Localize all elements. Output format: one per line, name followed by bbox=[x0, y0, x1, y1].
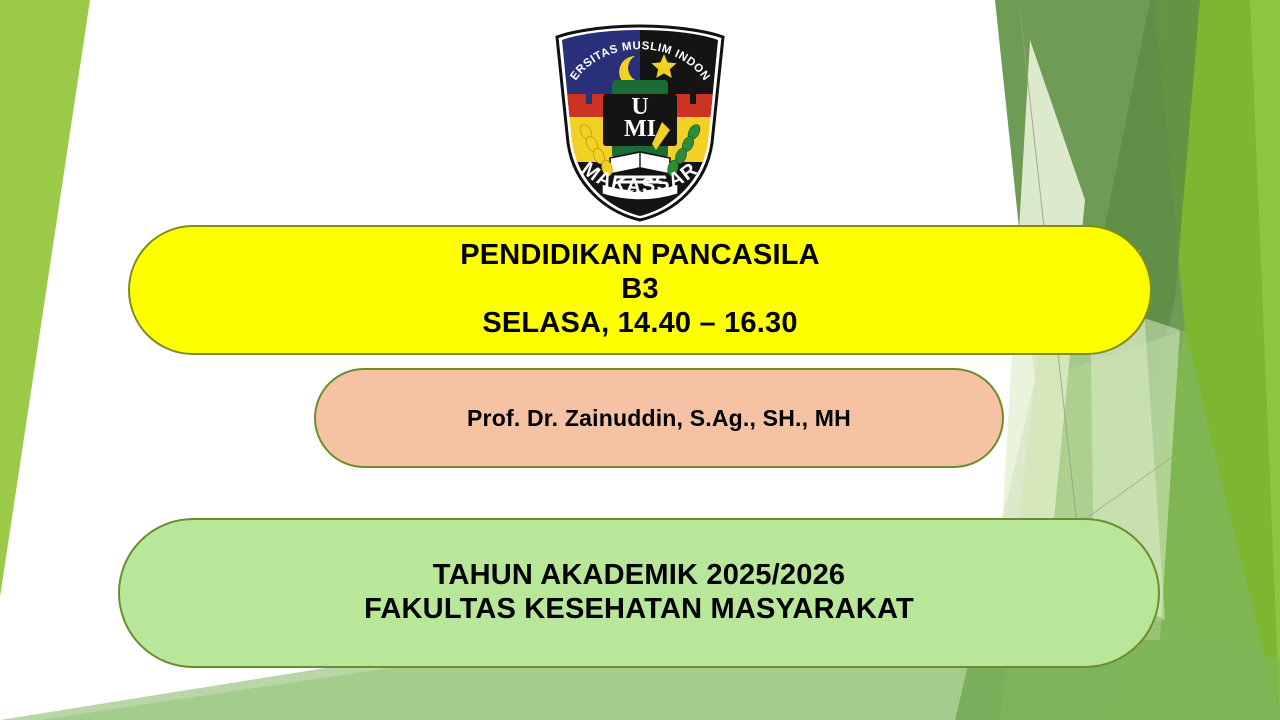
academic-year-banner: TAHUN AKADEMIK 2025/2026 FAKULTAS KESEHA… bbox=[118, 518, 1160, 668]
course-title-text: PENDIDIKAN PANCASILA B3 SELASA, 14.40 – … bbox=[460, 239, 820, 341]
hairline-diagonal-lower bbox=[1077, 455, 1175, 525]
monogram-letters-mi: MI bbox=[624, 116, 656, 142]
umi-logo-svg: U MI bbox=[540, 22, 740, 222]
academic-year-text: TAHUN AKADEMIK 2025/2026 FAKULTAS KESEHA… bbox=[364, 559, 914, 627]
course-title-banner: PENDIDIKAN PANCASILA B3 SELASA, 14.40 – … bbox=[128, 225, 1152, 355]
umi-logo: U MI bbox=[540, 22, 740, 222]
presentation-slide: U MI bbox=[0, 0, 1280, 720]
lecturer-name-text: Prof. Dr. Zainuddin, S.Ag., SH., MH bbox=[467, 405, 851, 432]
left-green-wedge bbox=[0, 0, 90, 597]
lecturer-banner: Prof. Dr. Zainuddin, S.Ag., SH., MH bbox=[314, 368, 1004, 468]
monogram-panel: U MI bbox=[603, 80, 677, 158]
